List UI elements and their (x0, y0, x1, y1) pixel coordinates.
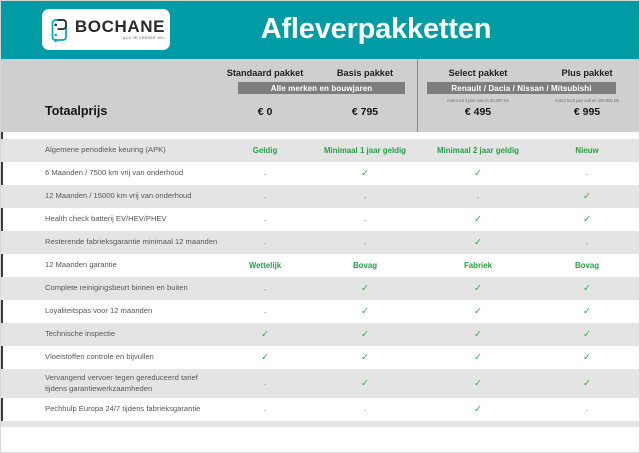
table-row: Vloeistoffen controle en bijvullen✓✓✓✓ (0, 346, 640, 369)
cell-standaard: - (213, 369, 317, 398)
cell-basis: ✓ (313, 300, 417, 323)
cell-standaard: - (213, 231, 317, 254)
table-row: 12 Maanden garantieWettelijkBovagFabriek… (0, 254, 640, 277)
package-price-standaard: € 0 (213, 106, 317, 118)
cell-plus: Nieuw (535, 139, 639, 162)
table-footer-space (0, 427, 640, 453)
cell-basis: - (313, 398, 417, 421)
cell-basis: ✓ (313, 323, 417, 346)
row-tick (0, 231, 3, 254)
row-feature-label: Pechhulp Europa 24/7 tijdens fabrieksgar… (45, 398, 200, 421)
row-feature-label: 12 Maanden garantie (45, 254, 117, 277)
cell-basis: - (313, 208, 417, 231)
table-row: Resterende fabrieksgarantie minimaal 12 … (0, 231, 640, 254)
page-header: BOCHANE ALS JE VERDER WIL Afleverpakkett… (0, 0, 640, 59)
cell-basis: ✓ (313, 346, 417, 369)
cell-plus: ✓ (535, 346, 639, 369)
row-tick (0, 132, 3, 139)
cell-select: ✓ (426, 300, 530, 323)
table-body: Algemene periodieke keuring (APK)GeldigM… (0, 139, 640, 444)
row-label-line1: Loyaliteitspas voor 12 maanden (45, 306, 152, 316)
cell-select: ✓ (426, 369, 530, 398)
cell-select: - (426, 185, 530, 208)
cell-plus: ✓ (535, 323, 639, 346)
row-tick (0, 185, 3, 208)
table-row: Health check batterij EV/HEV/PHEV--✓✓ (0, 208, 640, 231)
row-feature-label: 12 Maanden / 15000 km vrij van onderhoud (45, 185, 192, 208)
cell-plus: - (535, 398, 639, 421)
cell-basis: Minimaal 1 jaar geldig (313, 139, 417, 162)
cell-select: ✓ (426, 162, 530, 185)
row-feature-label: 6 Maanden / 7500 km vrij van onderhoud (45, 162, 183, 185)
cell-select: Fabriek (426, 254, 530, 277)
table-row: Vervangend vervoer tegen gereduceerd tar… (0, 369, 640, 398)
row-label-line1: Health check batterij EV/HEV/PHEV (45, 214, 167, 224)
package-scope-badge-left: Alle merken en bouwjaren (238, 82, 405, 94)
packages-comparison-table: Totaalprijs Standaard pakket€ 0Basis pak… (0, 59, 640, 453)
row-tick (0, 369, 3, 398)
cell-plus: ✓ (535, 185, 639, 208)
package-price-plus: € 995 (535, 106, 639, 118)
row-label-line1: 12 Maanden / 15000 km vrij van onderhoud (45, 191, 192, 201)
cell-standaard: ✓ (213, 323, 317, 346)
cell-plus: ✓ (535, 277, 639, 300)
cell-select: ✓ (426, 231, 530, 254)
table-row: Pechhulp Europa 24/7 tijdens fabrieksgar… (0, 398, 640, 421)
row-label-line1: Vloeistoffen controle en bijvullen (45, 352, 154, 362)
cell-standaard: Geldig (213, 139, 317, 162)
cell-select: ✓ (426, 346, 530, 369)
row-tick (0, 139, 3, 162)
cell-standaard: ✓ (213, 346, 317, 369)
cell-plus: - (535, 162, 639, 185)
row-label-line1: Algemene periodieke keuring (APK) (45, 145, 166, 155)
page-title: Afleverpakketten (0, 0, 640, 59)
table-row: 12 Maanden / 15000 km vrij van onderhoud… (0, 185, 640, 208)
cell-plus: ✓ (535, 300, 639, 323)
cell-standaard: - (213, 277, 317, 300)
cell-standaard: - (213, 300, 317, 323)
row-tick (0, 162, 3, 185)
cell-select: ✓ (426, 208, 530, 231)
row-label-line1: 12 Maanden garantie (45, 260, 117, 270)
total-price-label: Totaalprijs (45, 104, 107, 118)
cell-basis: Bovag (313, 254, 417, 277)
header-column-divider (417, 59, 418, 132)
cell-basis: - (313, 185, 417, 208)
row-tick (0, 277, 3, 300)
row-tick (0, 254, 3, 277)
cell-plus: Bovag (535, 254, 639, 277)
row-tick (0, 300, 3, 323)
row-feature-label: Vloeistoffen controle en bijvullen (45, 346, 154, 369)
cell-basis: - (313, 231, 417, 254)
row-tick (0, 346, 3, 369)
cell-select: ✓ (426, 277, 530, 300)
table-row: Algemene periodieke keuring (APK)GeldigM… (0, 139, 640, 162)
cell-select: ✓ (426, 398, 530, 421)
row-feature-label: Algemene periodieke keuring (APK) (45, 139, 166, 162)
cell-plus: ✓ (535, 208, 639, 231)
package-price-basis: € 795 (313, 106, 417, 118)
cell-basis: ✓ (313, 162, 417, 185)
cell-select: ✓ (426, 323, 530, 346)
package-scope-badge-right: Renault / Dacia / Nissan / Mitsubishi (427, 82, 616, 94)
package-subnote-select: Auto's tot 3 jaar oud en 20.000 km (426, 96, 530, 105)
package-price-select: € 495 (426, 106, 530, 118)
cell-basis: ✓ (313, 277, 417, 300)
cell-standaard: - (213, 208, 317, 231)
cell-standaard: - (213, 162, 317, 185)
row-tick (0, 323, 3, 346)
header-body-gap (0, 132, 640, 139)
table-row: Loyaliteitspas voor 12 maanden-✓✓✓ (0, 300, 640, 323)
row-label-line1: Vervangend vervoer tegen gereduceerd tar… (45, 373, 198, 383)
cell-plus: - (535, 231, 639, 254)
row-feature-label: Vervangend vervoer tegen gereduceerd tar… (45, 369, 198, 398)
package-name-plus: Plus pakket (535, 68, 639, 78)
afleverpakketten-page: BOCHANE ALS JE VERDER WIL Afleverpakkett… (0, 0, 640, 453)
package-name-select: Select pakket (426, 68, 530, 78)
table-row: Complete reinigingsbeurt binnen en buite… (0, 277, 640, 300)
cell-standaard: - (213, 185, 317, 208)
row-label-line1: Technische inspectie (45, 329, 115, 339)
row-tick (0, 398, 3, 421)
package-name-standaard: Standaard pakket (213, 68, 317, 78)
row-label-line1: 6 Maanden / 7500 km vrij van onderhoud (45, 168, 183, 178)
row-feature-label: Loyaliteitspas voor 12 maanden (45, 300, 152, 323)
row-tick (0, 208, 3, 231)
row-feature-label: Technische inspectie (45, 323, 115, 346)
package-subnote-plus: Auto's tot 5 jaar oud en 100.000 km (535, 96, 639, 105)
cell-plus: ✓ (535, 369, 639, 398)
cell-standaard: Wettelijk (213, 254, 317, 277)
row-feature-label: Resterende fabrieksgarantie minimaal 12 … (45, 231, 217, 254)
table-row: 6 Maanden / 7500 km vrij van onderhoud-✓… (0, 162, 640, 185)
row-feature-label: Health check batterij EV/HEV/PHEV (45, 208, 167, 231)
row-label-line1: Resterende fabrieksgarantie minimaal 12 … (45, 237, 217, 247)
table-row: Technische inspectie✓✓✓✓ (0, 323, 640, 346)
row-feature-label: Complete reinigingsbeurt binnen en buite… (45, 277, 188, 300)
row-label-line1: Complete reinigingsbeurt binnen en buite… (45, 283, 188, 293)
row-label-line1: Pechhulp Europa 24/7 tijdens fabrieksgar… (45, 404, 200, 414)
cell-select: Minimaal 2 jaar geldig (426, 139, 530, 162)
package-name-basis: Basis pakket (313, 68, 417, 78)
row-label-line2: tijdens garantiewerkzaamheden (45, 384, 198, 394)
cell-standaard: - (213, 398, 317, 421)
cell-basis: ✓ (313, 369, 417, 398)
